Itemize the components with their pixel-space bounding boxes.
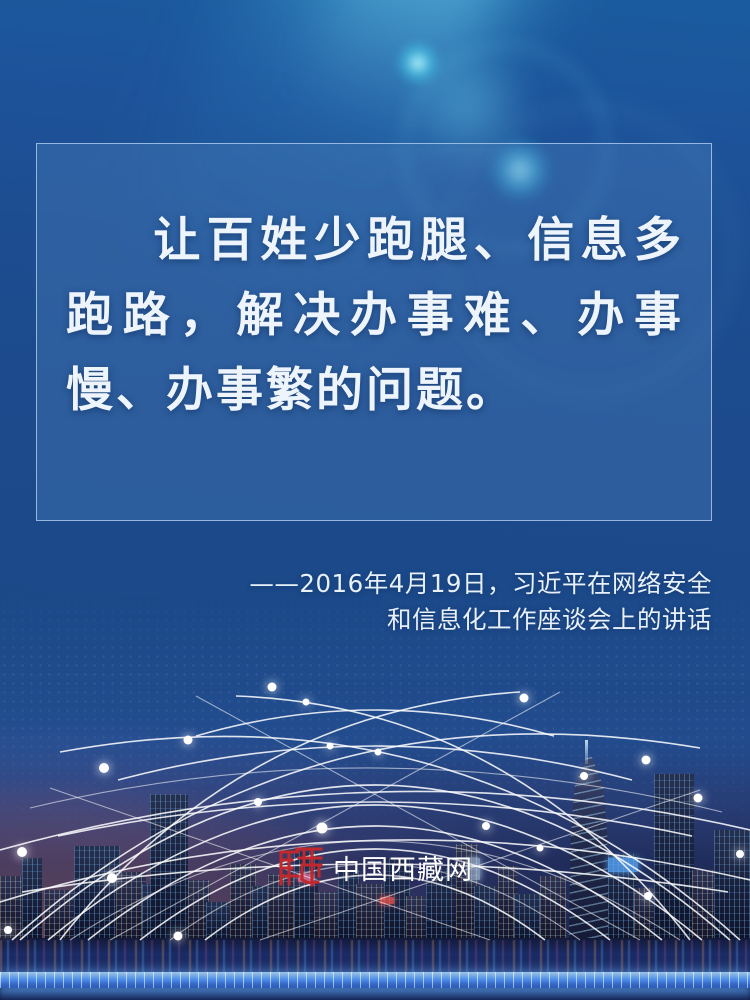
site-logo[interactable]: 中国西藏网 [278, 846, 473, 888]
attribution: ——2016年4月19日，习近平在网络安全 和信息化工作座谈会上的讲话 [192, 566, 712, 638]
site-logo-text: 中国西藏网 [333, 848, 473, 887]
quote-line-1: 让百姓少跑腿、信息 [150, 213, 634, 268]
bridge-reflection [0, 988, 750, 1000]
poster-canvas: 让百姓少跑腿、信息多跑路，解决办事难、办事慢、办事繁的问题。 ——2016年4月… [0, 0, 750, 1000]
network-globe-graphic [0, 640, 750, 970]
attribution-line-2: 和信息化工作座谈会上的讲话 [192, 602, 712, 638]
china-tibet-net-seal-icon [278, 846, 324, 888]
lit-bridge [0, 972, 750, 988]
lens-flare-core-upper [395, 40, 441, 86]
attribution-line-1: ——2016年4月19日，习近平在网络安全 [192, 566, 712, 602]
quote-text: 让百姓少跑腿、信息多跑路，解决办事难、办事慢、办事繁的问题。 [36, 143, 712, 428]
